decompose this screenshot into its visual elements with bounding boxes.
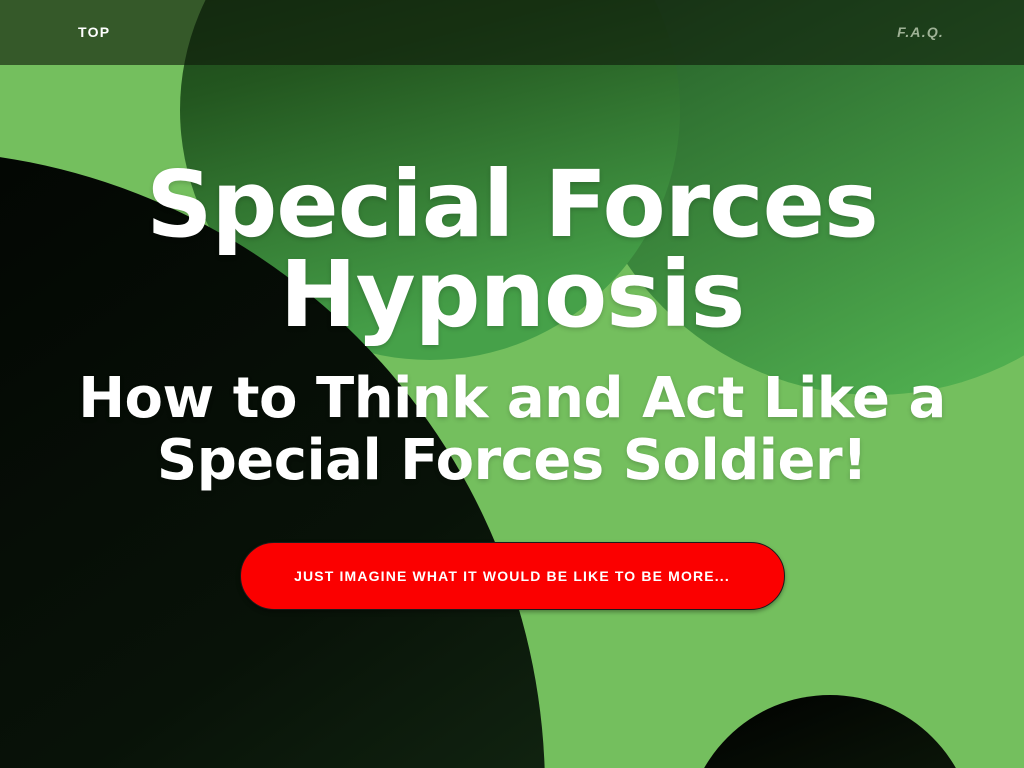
page-title-line-2: Hypnosis [62,250,962,340]
page-title: Special Forces Hypnosis [62,160,962,340]
page-subtitle: How to Think and Act Like a Special Forc… [62,368,962,491]
site-header: TOP F.A.Q. [0,0,1024,65]
hero-section: Special Forces Hypnosis How to Think and… [0,65,1024,768]
cta-button[interactable]: JUST IMAGINE WHAT IT WOULD BE LIKE TO BE… [240,542,785,610]
page-subtitle-line-2: Special Forces Soldier! [62,430,962,492]
header-left-group: TOP [0,24,110,42]
page-root: TOP F.A.Q. Special Forces Hypnosis How t… [0,0,1024,768]
nav-link-faq[interactable]: F.A.Q. [897,24,944,40]
cta-container: JUST IMAGINE WHAT IT WOULD BE LIKE TO BE… [0,542,1024,610]
page-title-line-1: Special Forces [62,160,962,250]
page-subtitle-line-1: How to Think and Act Like a [62,368,962,430]
header-right-group: F.A.Q. [897,24,1024,42]
nav-link-top[interactable]: TOP [78,24,110,40]
